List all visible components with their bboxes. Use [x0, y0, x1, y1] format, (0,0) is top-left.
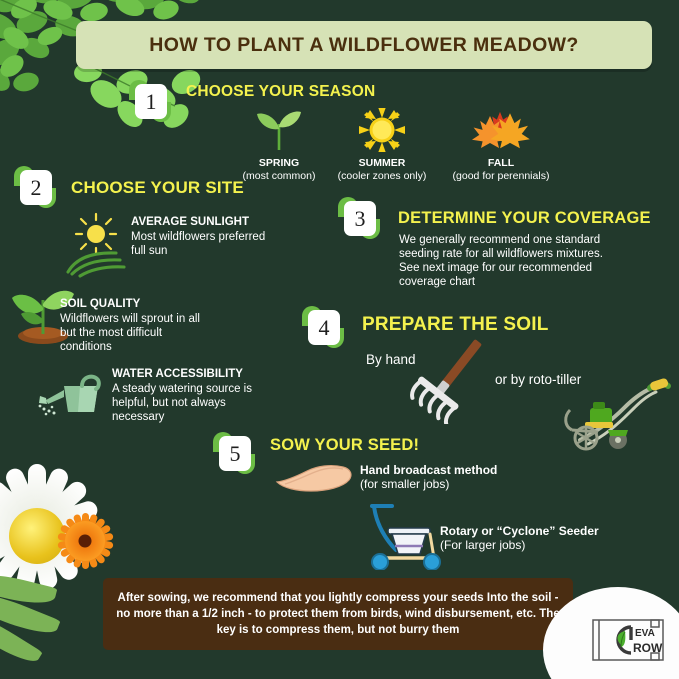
sunlight-body: Most wildflowers preferred full sun [131, 230, 265, 258]
season-name: SUMMER [322, 157, 442, 169]
logo-line-1: EVA [635, 628, 655, 639]
season-note: (cooler zones only) [322, 170, 442, 182]
roto-tiller-icon [552, 374, 672, 454]
season-spring: SPRING (most common) [219, 108, 339, 182]
step-3-body: We generally recommend one standard seed… [399, 233, 603, 289]
footer-note-text: After sowing, we recommend that you ligh… [103, 590, 573, 639]
step-3-badge: 3 [338, 197, 380, 239]
page-title-text: HOW TO PLANT A WILDFLOWER MEADOW? [149, 34, 579, 57]
season-note: (good for perennials) [441, 170, 561, 182]
logo-line-2: ROW [633, 641, 663, 655]
sun-icon [322, 108, 442, 152]
hand-broadcast-title: Hand broadcast method [360, 463, 497, 477]
step-4-number: 4 [308, 310, 340, 345]
step-5-badge: 5 [213, 432, 255, 474]
season-summer: SUMMER (cooler zones only) [322, 108, 442, 182]
water-body: A steady watering source is helpful, but… [112, 382, 252, 424]
step-1-heading: CHOOSE YOUR SEASON [186, 83, 375, 101]
step-4-badge: 4 [302, 306, 344, 348]
footer-note: After sowing, we recommend that you ligh… [103, 578, 573, 650]
hand-broadcast-note: (for smaller jobs) [360, 477, 449, 491]
season-fall: FALL (good for perennials) [441, 108, 561, 182]
step-1-number: 1 [135, 84, 167, 119]
rotary-seeder-title: Rotary or “Cyclone” Seeder [440, 524, 599, 538]
step-2-badge: 2 [14, 166, 56, 208]
marigold-flower-icon [57, 513, 113, 569]
open-hand-icon [271, 462, 357, 496]
soil-title: SOIL QUALITY [60, 298, 140, 310]
eva-grow-logo[interactable]: EVA ROW [591, 615, 669, 665]
step-3-number: 3 [344, 201, 376, 236]
rotary-seeder-note: (For larger jobs) [440, 538, 525, 552]
maple-leaf-icon [441, 108, 561, 152]
rake-icon [395, 334, 505, 424]
step-2-heading: CHOOSE YOUR SITE [71, 178, 244, 198]
sun-over-field-icon [60, 212, 132, 278]
step-4-heading: PREPARE THE SOIL [362, 314, 549, 336]
season-name: SPRING [219, 157, 339, 169]
step-5-number: 5 [219, 436, 251, 471]
step-5-heading: SOW YOUR SEED! [270, 436, 419, 455]
step-2-number: 2 [20, 170, 52, 205]
step-3-heading: DETERMINE YOUR COVERAGE [398, 209, 651, 228]
soil-body: Wildflowers will sprout in all but the m… [60, 312, 200, 354]
page-title: HOW TO PLANT A WILDFLOWER MEADOW? [76, 21, 652, 69]
infographic-poster: HOW TO PLANT A WILDFLOWER MEADOW? 1 CHOO… [0, 0, 679, 679]
water-title: WATER ACCESSIBILITY [112, 368, 243, 380]
step-1-badge: 1 [129, 80, 171, 122]
g-leaf-logo-icon: EVA ROW [591, 615, 669, 665]
sunlight-title: AVERAGE SUNLIGHT [131, 216, 249, 228]
watering-can-icon [36, 370, 112, 418]
season-name: FALL [441, 157, 561, 169]
seedling-icon [219, 108, 339, 152]
